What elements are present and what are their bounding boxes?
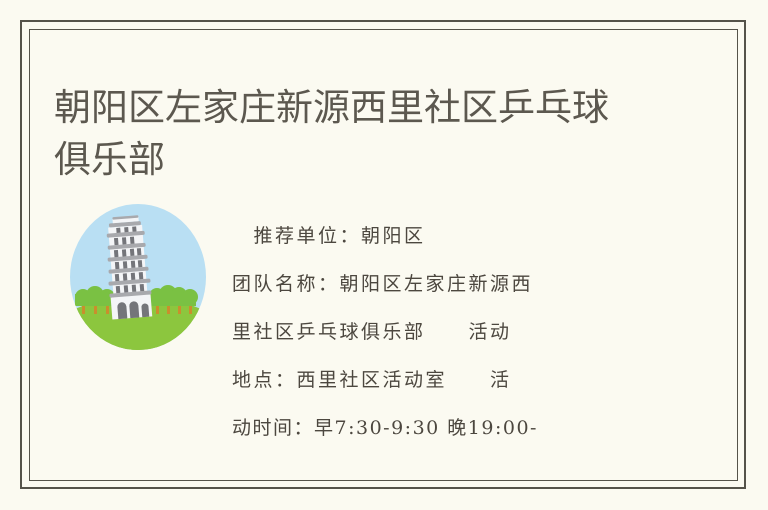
- page-canvas: 朝阳区左家庄新源西里社区乒乓球俱乐部: [0, 0, 768, 510]
- page-title: 朝阳区左家庄新源西里社区乒乓球俱乐部: [54, 82, 634, 186]
- leaning-tower-of-pisa-icon: [70, 204, 206, 350]
- info-line-team-name-part2: 里社区乒乓球俱乐部 活动: [232, 308, 646, 356]
- info-line-team-name-part1: 团队名称：朝阳区左家庄新源西: [232, 260, 646, 308]
- info-line-activity-location: 地点：西里社区活动室 活: [232, 356, 646, 404]
- info-text-block: 推荐单位：朝阳区 团队名称：朝阳区左家庄新源西 里社区乒乓球俱乐部 活动 地点：…: [232, 212, 646, 454]
- info-line-activity-time: 动时间：早7:30-9:30 晚19:00-: [232, 404, 646, 452]
- info-line-recommending-unit: 推荐单位：朝阳区: [232, 212, 646, 260]
